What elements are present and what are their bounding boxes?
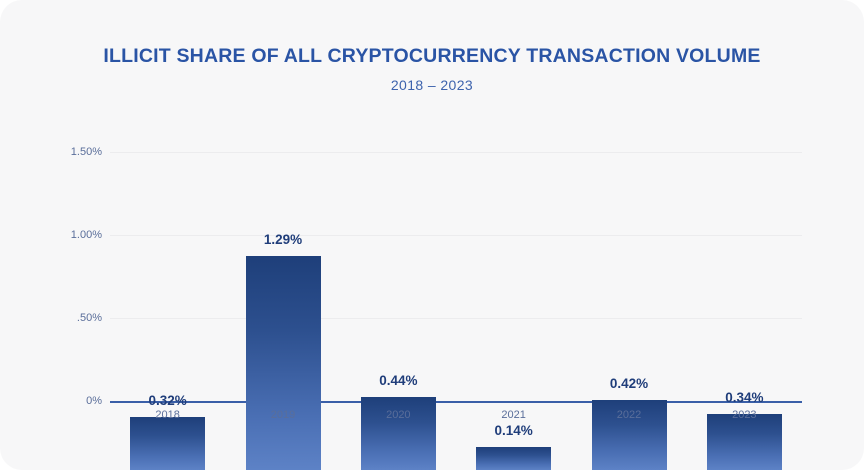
bar-value-label: 0.34% [707,390,782,405]
bar-value-label: 0.14% [476,423,551,438]
bar-value-label: 0.44% [361,373,436,388]
y-tick-label: 1.00% [30,229,102,241]
y-tick-label: 1.50% [30,146,102,158]
bar-value-label: 1.29% [246,232,321,247]
bar[interactable] [361,397,436,470]
x-tick-label: 2019 [246,409,321,421]
bar[interactable] [476,447,551,470]
bar[interactable] [707,414,782,470]
x-tick-label: 2018 [130,409,205,421]
x-axis: 0.32%20181.29%20190.44%20200.14%20210.42… [110,0,802,470]
y-axis: 0%.50%1.00%1.50% [20,0,102,470]
bar-value-label: 0.32% [130,393,205,408]
chart-card: ILLICIT SHARE OF ALL CRYPTOCURRENCY TRAN… [0,0,864,470]
x-tick-label: 2021 [476,409,551,421]
y-tick-label: 0% [30,395,102,407]
x-tick-label: 2020 [361,409,436,421]
bar[interactable] [130,417,205,470]
bar[interactable] [246,256,321,470]
y-tick-label: .50% [30,312,102,324]
bar-value-label: 0.42% [592,376,667,391]
x-tick-label: 2023 [707,409,782,421]
x-tick-label: 2022 [592,409,667,421]
